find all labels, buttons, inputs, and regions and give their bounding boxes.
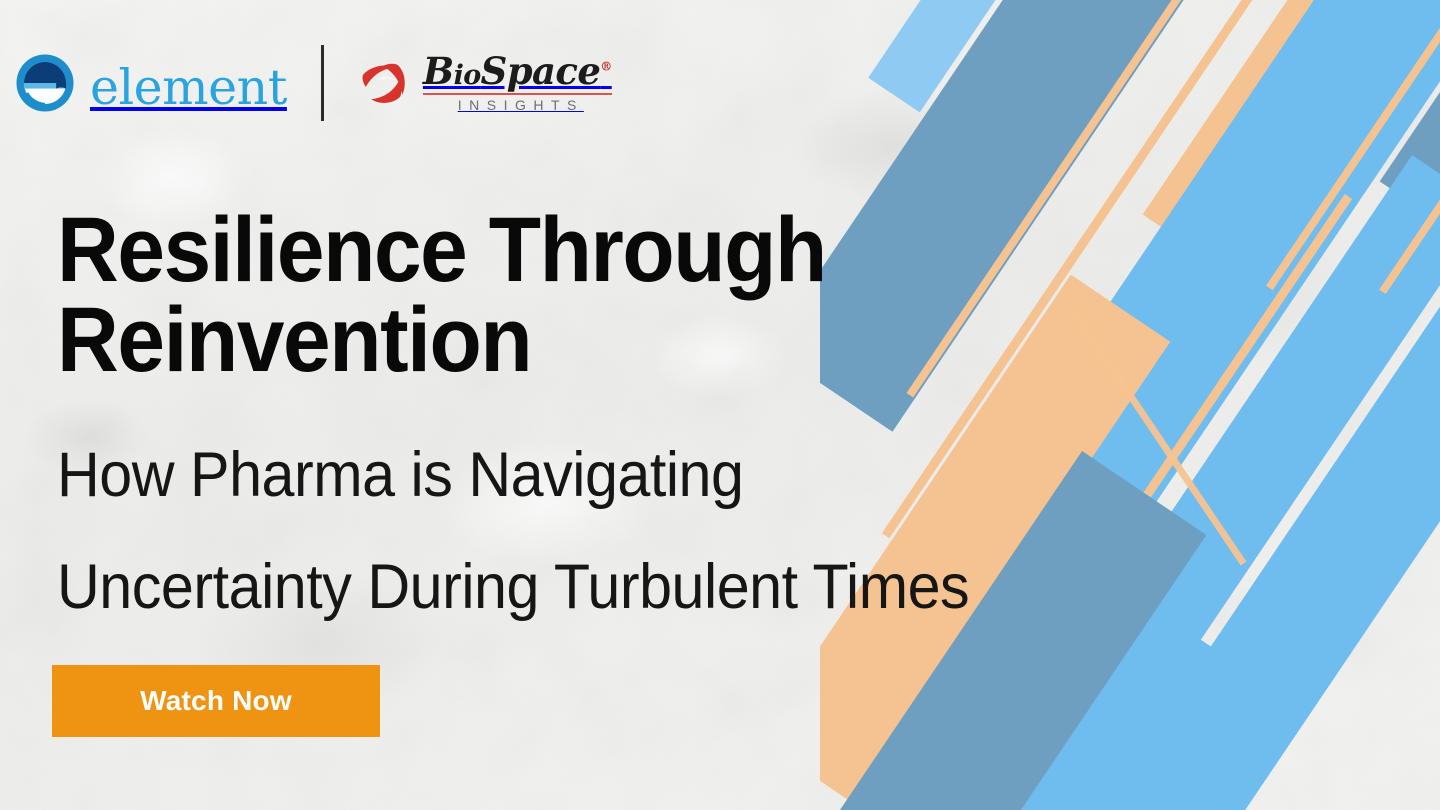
logo-lockup-bar: element BioSpace® INSIGHTS [14, 45, 612, 121]
biospace-trefoil-swoosh-icon [356, 54, 414, 112]
promo-banner: element BioSpace® INSIGHTS Resilie [0, 0, 1440, 810]
registered-trademark-icon: ® [600, 60, 611, 74]
subheadline-line-2: Uncertainty During Turbulent Times [57, 531, 1223, 643]
banner-content: Resilience Through Reinvention How Pharm… [57, 205, 1297, 644]
element-wordmark: element [90, 63, 287, 112]
subheadline-line-1: How Pharma is Navigating [57, 419, 1223, 531]
headline-line-2: Reinvention [57, 295, 1210, 385]
headline-line-1: Resilience Through [57, 205, 1210, 295]
page-title: Resilience Through Reinvention [57, 205, 1210, 385]
watch-now-button-label: Watch Now [140, 685, 292, 717]
logo-divider [321, 45, 324, 121]
biospace-rule [423, 93, 612, 95]
biospace-insights-logo[interactable]: BioSpace® INSIGHTS [356, 53, 612, 113]
element-logo[interactable]: element [14, 52, 287, 114]
page-subtitle: How Pharma is Navigating Uncertainty Dur… [57, 419, 1223, 643]
biospace-subtitle: INSIGHTS [423, 97, 612, 113]
biospace-text-block: BioSpace® INSIGHTS [423, 53, 612, 113]
element-circle-e-icon [14, 52, 76, 114]
biospace-wordmark: BioSpace® [423, 53, 612, 90]
watch-now-button[interactable]: Watch Now [52, 665, 380, 737]
